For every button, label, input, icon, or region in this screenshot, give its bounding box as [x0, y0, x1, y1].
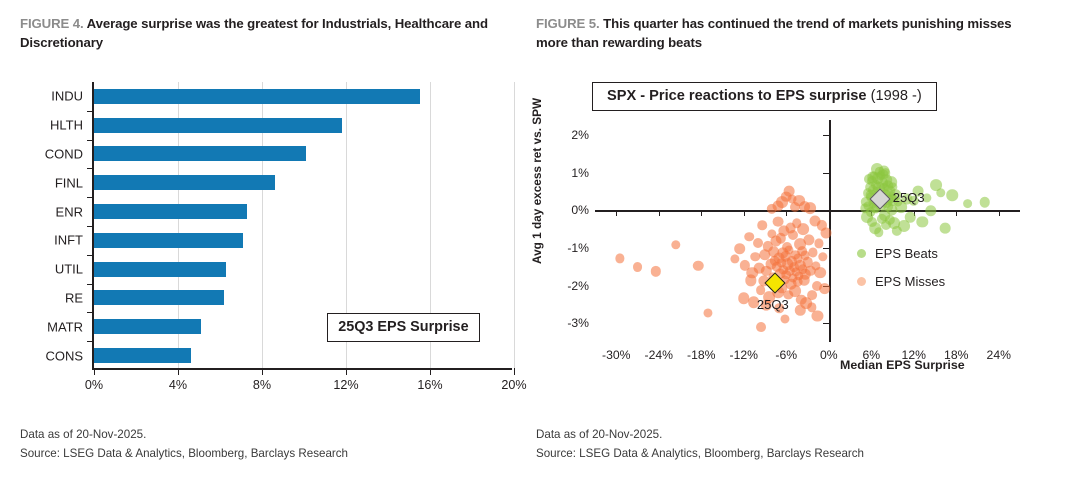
scatter-point	[671, 240, 680, 249]
bar-row	[94, 111, 342, 140]
scatter-point	[809, 248, 818, 257]
scatter-x-label: 12%	[902, 348, 926, 362]
bar-chart: INDUHLTHCONDFINLENRINFTUTILREMATRCONS0%4…	[20, 78, 518, 390]
scatter-x-tick	[701, 210, 702, 216]
scatter-x-label: -30%	[602, 348, 630, 362]
figure-4-panel: FIGURE 4. Average surprise was the great…	[12, 0, 532, 477]
bar-x-label-12: 12%	[333, 378, 358, 392]
bar-y-tick	[87, 312, 94, 313]
bar-y-label-hlth: HLTH	[50, 118, 83, 133]
scatter-x-label: -18%	[687, 348, 715, 362]
scatter-marker-label: 25Q3	[757, 297, 789, 312]
scatter-point	[881, 169, 891, 179]
bar-row	[94, 140, 306, 169]
scatter-x-label: 6%	[862, 348, 880, 362]
scatter-point	[963, 199, 973, 209]
scatter-x-tick	[616, 210, 617, 216]
bar-row	[94, 82, 420, 111]
scatter-point	[651, 266, 661, 276]
scatter-point	[756, 322, 766, 332]
bar-y-tick	[87, 197, 94, 198]
scatter-point	[861, 211, 873, 223]
scatter-point	[795, 305, 805, 315]
bar-row	[94, 255, 226, 284]
bar-y-tick	[87, 226, 94, 227]
bar-cond	[94, 146, 306, 161]
bar-x-tick	[346, 368, 347, 375]
scatter-y-tick	[823, 248, 829, 249]
bar-y-tick	[87, 255, 94, 256]
scatter-point	[936, 188, 945, 197]
bar-y-tick	[87, 111, 94, 112]
bar-x-tick	[514, 368, 515, 375]
scatter-y-tick	[823, 173, 829, 174]
bar-x-tick	[178, 368, 179, 375]
scatter-x-label: 0%	[820, 348, 838, 362]
scatter-y-tick	[823, 135, 829, 136]
bar-x-tick	[94, 368, 95, 375]
scatter-plot-area: -30%-24%-18%-12%-6%0%6%12%18%24%2%1%0%-1…	[595, 120, 1020, 342]
scatter-title-main: SPX - Price reactions to EPS surprise	[607, 88, 867, 104]
bar-y-label-util: UTIL	[55, 262, 83, 277]
bar-row	[94, 341, 191, 370]
scatter-y-tick	[823, 323, 829, 324]
scatter-y-label: -1%	[567, 241, 589, 255]
scatter-point	[818, 252, 827, 261]
bar-row	[94, 284, 224, 313]
scatter-point	[753, 238, 763, 248]
bar-y-label-indu: INDU	[51, 89, 83, 104]
bar-y-tick	[87, 168, 94, 169]
scatter-y-label: -2%	[567, 279, 589, 293]
figure-5-footer: Data as of 20-Nov-2025. Source: LSEG Dat…	[536, 425, 864, 463]
bar-x-tick	[430, 368, 431, 375]
scatter-y-label: 0%	[571, 203, 589, 217]
bar-y-tick	[87, 284, 94, 285]
figure-4-title: Average surprise was the greatest for In…	[20, 16, 488, 50]
bar-y-label-inft: INFT	[54, 233, 83, 248]
bar-row	[94, 168, 275, 197]
figure-4-source: Source: LSEG Data & Analytics, Bloomberg…	[20, 444, 348, 463]
scatter-x-label: -12%	[730, 348, 758, 362]
bar-y-tick	[87, 140, 94, 141]
scatter-point	[979, 197, 990, 208]
scatter-title-box: SPX - Price reactions to EPS surprise (1…	[592, 82, 937, 111]
bar-y-label-enr: ENR	[56, 204, 83, 219]
scatter-legend-label: EPS Misses	[875, 274, 945, 289]
bar-row	[94, 226, 243, 255]
bar-y-label-cond: COND	[45, 147, 83, 162]
scatter-y-label: 1%	[571, 166, 589, 180]
scatter-point	[814, 267, 826, 279]
scatter-y-label: -3%	[567, 316, 589, 330]
scatter-point	[780, 315, 789, 324]
scatter-point	[819, 283, 831, 295]
scatter-legend-dot-icon	[857, 277, 866, 286]
scatter-y-label: 2%	[571, 128, 589, 142]
bar-chart-legend-box: 25Q3 EPS Surprise	[327, 313, 479, 342]
scatter-point	[864, 174, 874, 184]
bar-y-label-cons: CONS	[45, 348, 83, 363]
bar-re	[94, 290, 224, 305]
figure-5-title: This quarter has continued the trend of …	[536, 16, 1012, 50]
scatter-point	[917, 216, 928, 227]
bar-x-label-8: 8%	[253, 378, 271, 392]
scatter-legend-label: EPS Beats	[875, 246, 938, 261]
bar-cons	[94, 348, 191, 363]
bar-y-label-matr: MATR	[47, 319, 83, 334]
bar-y-label-re: RE	[65, 291, 83, 306]
bar-x-label-16: 16%	[417, 378, 442, 392]
scatter-point	[804, 202, 816, 214]
scatter-point	[757, 221, 767, 231]
scatter-title-period: (1998 -)	[871, 88, 922, 104]
scatter-point	[905, 212, 916, 223]
figures-page: FIGURE 4. Average surprise was the great…	[0, 0, 1070, 477]
scatter-legend-item[interactable]: EPS Beats	[857, 246, 945, 261]
scatter-x-tick	[956, 210, 957, 216]
scatter-x-tick	[786, 210, 787, 216]
bar-y-label-finl: FINL	[55, 175, 83, 190]
scatter-legend: EPS BeatsEPS Misses	[857, 246, 945, 302]
scatter-legend-dot-icon	[857, 249, 866, 258]
scatter-point	[731, 255, 740, 264]
bar-indu	[94, 89, 420, 104]
scatter-point	[784, 185, 795, 196]
scatter-point	[812, 310, 823, 321]
figure-5-data-date: Data as of 20-Nov-2025.	[536, 425, 864, 444]
scatter-point	[940, 223, 951, 234]
bar-row	[94, 197, 247, 226]
scatter-point	[814, 239, 823, 248]
scatter-point	[790, 202, 800, 212]
scatter-point	[745, 275, 756, 286]
bar-gridline	[514, 82, 515, 368]
figure-4-number: FIGURE 4.	[20, 16, 84, 31]
scatter-point	[803, 234, 814, 245]
scatter-x-tick	[999, 210, 1000, 216]
scatter-x-tick	[659, 210, 660, 216]
scatter-x-label: -24%	[645, 348, 673, 362]
bar-inft	[94, 233, 243, 248]
figure-4-footer: Data as of 20-Nov-2025. Source: LSEG Dat…	[20, 425, 348, 463]
bar-x-label-0: 0%	[85, 378, 103, 392]
bar-finl	[94, 175, 275, 190]
scatter-point	[633, 263, 643, 273]
bar-x-label-20: 20%	[501, 378, 526, 392]
scatter-point	[881, 220, 891, 230]
scatter-point	[807, 290, 817, 300]
bar-y-tick	[87, 341, 94, 342]
figure-5-number: FIGURE 5.	[536, 16, 600, 31]
bar-x-tick	[262, 368, 263, 375]
scatter-marker-label: 25Q3	[893, 190, 925, 205]
scatter-x-tick	[829, 210, 830, 216]
scatter-point	[820, 227, 831, 238]
bar-util	[94, 262, 226, 277]
scatter-y-axis-label: Avg 1 day excess ret vs. SPW	[530, 98, 544, 264]
scatter-point	[693, 261, 703, 271]
bar-hlth	[94, 118, 342, 133]
scatter-x-label: 18%	[944, 348, 968, 362]
scatter-point	[615, 254, 624, 263]
scatter-point	[925, 205, 936, 216]
bar-x-label-4: 4%	[169, 378, 187, 392]
scatter-x-label: -6%	[775, 348, 797, 362]
scatter-chart: SPX - Price reactions to EPS surprise (1…	[528, 76, 1048, 396]
scatter-legend-item[interactable]: EPS Misses	[857, 274, 945, 289]
scatter-point	[946, 189, 958, 201]
figure-5-panel: FIGURE 5. This quarter has continued the…	[528, 0, 1048, 477]
figure-4-heading: FIGURE 4. Average surprise was the great…	[20, 14, 528, 52]
scatter-point	[704, 308, 713, 317]
bar-enr	[94, 204, 247, 219]
scatter-x-label: 24%	[987, 348, 1011, 362]
figure-4-data-date: Data as of 20-Nov-2025.	[20, 425, 348, 444]
scatter-point	[734, 243, 746, 255]
bar-row	[94, 312, 201, 341]
scatter-point	[767, 204, 777, 214]
figure-5-source: Source: LSEG Data & Analytics, Bloomberg…	[536, 444, 864, 463]
bar-matr	[94, 319, 201, 334]
figure-5-heading: FIGURE 5. This quarter has continued the…	[536, 14, 1044, 52]
scatter-x-tick	[744, 210, 745, 216]
